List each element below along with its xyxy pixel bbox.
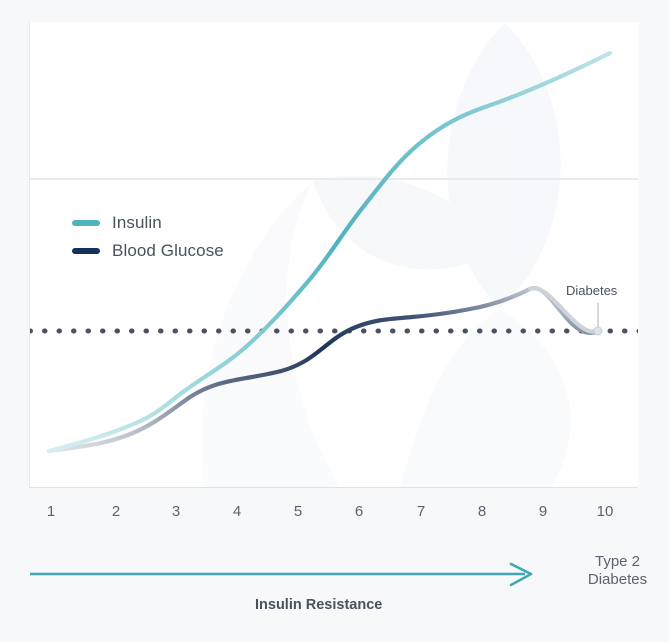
chart-figure: Insulin Blood Glucose Diabetes 1 2 3 4 5… xyxy=(0,0,669,642)
x-tick-4: 4 xyxy=(233,503,241,520)
x-tick-5: 5 xyxy=(294,503,302,520)
x-tick-9: 9 xyxy=(539,503,547,520)
type-2-diabetes-endpoint-label: Type 2 Diabetes xyxy=(570,553,665,589)
end-label-line-1: Type 2 xyxy=(570,553,665,571)
annotation-diabetes: Diabetes xyxy=(566,283,617,298)
legend-label-blood-glucose: Blood Glucose xyxy=(112,241,224,261)
x-tick-6: 6 xyxy=(355,503,363,520)
legend-swatch-insulin xyxy=(72,220,100,226)
series-line-blood-glucose xyxy=(49,288,598,451)
x-axis-title: Insulin Resistance xyxy=(255,597,382,613)
diabetes-marker-dot xyxy=(594,327,602,335)
arrow-head xyxy=(511,564,531,585)
x-tick-10: 10 xyxy=(597,503,614,520)
watermark-decoration xyxy=(202,23,571,488)
x-tick-3: 3 xyxy=(172,503,180,520)
x-tick-2: 2 xyxy=(112,503,120,520)
x-axis-tick-labels: 1 2 3 4 5 6 7 8 9 10 xyxy=(29,503,639,527)
x-tick-1: 1 xyxy=(47,503,55,520)
legend-item-insulin[interactable]: Insulin xyxy=(72,212,224,234)
x-tick-8: 8 xyxy=(478,503,486,520)
x-tick-7: 7 xyxy=(417,503,425,520)
end-label-line-2: Diabetes xyxy=(570,571,665,589)
chart-legend: Insulin Blood Glucose xyxy=(72,212,224,262)
legend-swatch-blood-glucose xyxy=(72,248,100,254)
legend-label-insulin: Insulin xyxy=(112,213,162,233)
legend-item-blood-glucose[interactable]: Blood Glucose xyxy=(72,240,224,262)
